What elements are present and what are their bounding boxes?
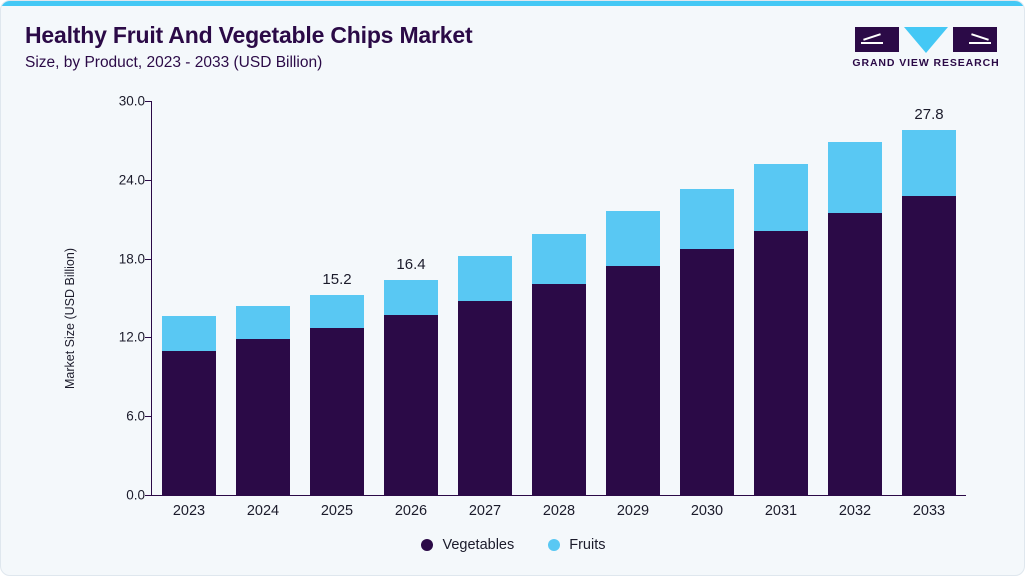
logo-left-box-icon: [855, 27, 899, 52]
bar-segment-fruits[interactable]: [532, 234, 586, 284]
bar-segment-vegetables[interactable]: [532, 284, 586, 495]
bar-group[interactable]: 27.8: [902, 130, 956, 495]
page-subtitle: Size, by Product, 2023 - 2033 (USD Billi…: [25, 53, 805, 73]
y-axis-tick-label: 30.0: [119, 94, 145, 109]
y-axis-tick-labels: 0.06.012.018.024.030.0: [93, 89, 145, 549]
bar-group[interactable]: [458, 256, 512, 495]
legend-label-vegetables: Vegetables: [442, 537, 514, 553]
bar-segment-vegetables[interactable]: [236, 339, 290, 495]
logo-right-box-icon: [953, 27, 997, 52]
bar-value-label: 27.8: [914, 106, 943, 123]
bar-segment-fruits[interactable]: [384, 280, 438, 315]
legend-item-vegetables[interactable]: Vegetables: [421, 537, 514, 553]
bar-group[interactable]: [162, 316, 216, 495]
y-axis-title: Market Size (USD Billion): [63, 248, 77, 389]
chart-card: Healthy Fruit And Vegetable Chips Market…: [0, 0, 1025, 576]
bar-segment-vegetables[interactable]: [384, 315, 438, 495]
logo-marks: [850, 27, 1002, 53]
y-axis-tick: [145, 180, 151, 181]
bar-segment-fruits[interactable]: [310, 295, 364, 328]
bar-segment-fruits[interactable]: [828, 142, 882, 213]
x-axis-tick-label: 2033: [913, 503, 945, 519]
x-axis-tick-label: 2026: [395, 503, 427, 519]
bar-segment-fruits[interactable]: [754, 164, 808, 231]
bar-segment-vegetables[interactable]: [458, 301, 512, 495]
top-accent-bar: [1, 1, 1025, 6]
x-axis-tick-label: 2024: [247, 503, 279, 519]
legend-swatch-vegetables-icon: [421, 539, 433, 551]
bar-series-container: 15.216.427.8: [152, 101, 966, 495]
bar-group[interactable]: [532, 234, 586, 495]
legend-label-fruits: Fruits: [569, 537, 605, 553]
x-axis-tick-labels: 2023202420252026202720282029203020312032…: [152, 503, 966, 527]
bar-group[interactable]: [828, 142, 882, 495]
bar-value-label: 15.2: [322, 271, 351, 288]
bar-segment-fruits[interactable]: [162, 316, 216, 350]
bar-segment-vegetables[interactable]: [754, 231, 808, 495]
plot-area: Market Size (USD Billion) 0.06.012.018.0…: [1, 89, 1025, 549]
x-axis-tick-label: 2030: [691, 503, 723, 519]
bar-group[interactable]: [606, 211, 660, 495]
chart-header: Healthy Fruit And Vegetable Chips Market…: [25, 21, 805, 73]
x-axis-tick-label: 2028: [543, 503, 575, 519]
x-axis-tick-label: 2027: [469, 503, 501, 519]
bar-group[interactable]: [680, 189, 734, 495]
x-axis-tick-label: 2032: [839, 503, 871, 519]
bar-group[interactable]: 16.4: [384, 280, 438, 495]
x-axis-tick-label: 2025: [321, 503, 353, 519]
bar-segment-fruits[interactable]: [236, 306, 290, 339]
y-axis-tick-label: 18.0: [119, 251, 145, 266]
bar-segment-vegetables[interactable]: [162, 351, 216, 495]
bar-segment-fruits[interactable]: [606, 211, 660, 266]
bar-group[interactable]: [754, 164, 808, 495]
brand-logo: GRAND VIEW RESEARCH: [850, 27, 1002, 69]
bar-segment-vegetables[interactable]: [310, 328, 364, 495]
x-axis-tick-label: 2031: [765, 503, 797, 519]
y-axis-tick-label: 12.0: [119, 330, 145, 345]
logo-text: GRAND VIEW RESEARCH: [850, 57, 1002, 69]
legend-swatch-fruits-icon: [548, 539, 560, 551]
y-axis-tick: [145, 101, 151, 102]
bar-segment-vegetables[interactable]: [680, 249, 734, 495]
bar-group[interactable]: [236, 306, 290, 495]
y-axis-tick: [145, 337, 151, 338]
x-axis-tick-label: 2029: [617, 503, 649, 519]
x-axis-tick-label: 2023: [173, 503, 205, 519]
y-axis-tick-label: 6.0: [126, 409, 145, 424]
page-title: Healthy Fruit And Vegetable Chips Market: [25, 21, 805, 49]
y-axis-tick: [145, 259, 151, 260]
y-axis-tick-label: 24.0: [119, 172, 145, 187]
bar-segment-fruits[interactable]: [902, 130, 956, 196]
bar-segment-vegetables[interactable]: [606, 266, 660, 495]
chart-legend: Vegetables Fruits: [1, 537, 1025, 553]
bar-segment-vegetables[interactable]: [902, 196, 956, 495]
bar-segment-fruits[interactable]: [458, 256, 512, 301]
bar-segment-vegetables[interactable]: [828, 213, 882, 495]
bar-value-label: 16.4: [396, 256, 425, 273]
x-axis-line: [151, 495, 966, 496]
bar-group[interactable]: 15.2: [310, 295, 364, 495]
y-axis-tick-label: 0.0: [126, 488, 145, 503]
y-axis-tick: [145, 416, 151, 417]
logo-triangle-icon: [904, 27, 948, 53]
bar-segment-fruits[interactable]: [680, 189, 734, 249]
legend-item-fruits[interactable]: Fruits: [548, 537, 605, 553]
y-axis-tick: [145, 495, 151, 496]
